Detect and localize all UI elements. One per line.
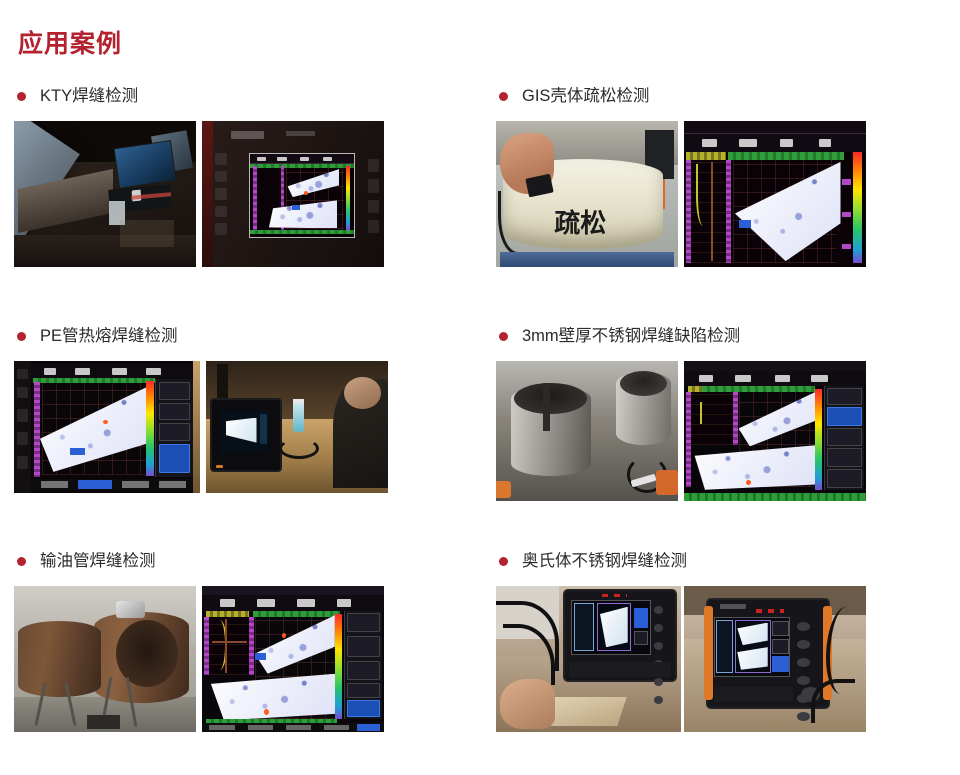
keypad-button[interactable] bbox=[654, 696, 663, 704]
case-item-gis-shell-porosity[interactable]: GIS壳体疏松检测 疏松 bbox=[496, 85, 866, 267]
case-media-row bbox=[496, 361, 866, 501]
readout-value bbox=[75, 368, 90, 376]
case-label-text: 奥氏体不锈钢焊缝检测 bbox=[522, 553, 687, 570]
parameter-box[interactable] bbox=[159, 423, 189, 441]
sector-scan-image bbox=[269, 200, 337, 228]
ut-probe-shape bbox=[116, 601, 145, 619]
case-media-row bbox=[14, 586, 384, 732]
softkey[interactable] bbox=[122, 481, 149, 489]
depth-ruler-left bbox=[34, 382, 40, 477]
parameter-box[interactable] bbox=[159, 382, 189, 400]
cursor-label bbox=[255, 653, 266, 660]
photo-edge-background bbox=[193, 361, 200, 493]
sector-scan-image bbox=[600, 607, 628, 648]
softkey-bar[interactable] bbox=[684, 493, 866, 501]
readout-value bbox=[300, 157, 309, 161]
instrument-keypad-button[interactable] bbox=[368, 159, 379, 172]
parameter-box[interactable] bbox=[347, 636, 380, 658]
readout-value-1 bbox=[220, 599, 235, 606]
oil-pipe-left bbox=[18, 621, 102, 697]
pipe-bore-right bbox=[620, 371, 667, 396]
a-scan-panel bbox=[716, 620, 732, 673]
instrument-display bbox=[220, 410, 270, 453]
case-label: 奥氏体不锈钢焊缝检测 bbox=[496, 550, 866, 572]
instrument-side-button[interactable] bbox=[215, 188, 228, 200]
parameter-box[interactable] bbox=[827, 388, 861, 405]
austenitic-device-photo[interactable] bbox=[684, 586, 866, 732]
status-led-row bbox=[756, 609, 785, 612]
instrument-side-button[interactable] bbox=[17, 387, 28, 398]
scale-marker bbox=[842, 244, 851, 250]
display-readout-bar bbox=[202, 595, 384, 611]
pipe-bore-left bbox=[514, 383, 587, 414]
parameter-box[interactable] bbox=[827, 448, 861, 467]
case-item-kty-weld[interactable]: KTY焊缝检测 bbox=[14, 85, 384, 267]
person-head-shape bbox=[344, 377, 380, 409]
readout-value bbox=[323, 157, 332, 161]
case-label-text: KTY焊缝检测 bbox=[40, 88, 138, 105]
sector-scan-image bbox=[226, 418, 257, 443]
readout-value bbox=[811, 375, 827, 382]
scale-marker bbox=[842, 179, 851, 185]
austenitic-scan-photo[interactable] bbox=[496, 586, 681, 732]
a-scan-panel bbox=[574, 603, 594, 651]
softkey-bar[interactable] bbox=[569, 662, 671, 676]
softkey-bar[interactable] bbox=[714, 687, 793, 702]
page-title: 应用案例 bbox=[18, 32, 122, 57]
parameter-box-selected[interactable] bbox=[827, 407, 861, 426]
readout-value bbox=[819, 139, 832, 147]
amplitude-color-scale bbox=[815, 389, 822, 490]
parameter-panel[interactable] bbox=[344, 611, 382, 719]
instrument-side-button[interactable] bbox=[17, 409, 28, 422]
amplitude-color-scale bbox=[335, 614, 342, 719]
display-menu-bar bbox=[202, 586, 384, 595]
instrument-brand-mark bbox=[720, 604, 746, 609]
parameter-box-selected[interactable] bbox=[347, 700, 380, 716]
defect-indication bbox=[264, 709, 269, 715]
softkey[interactable] bbox=[41, 481, 68, 489]
couplant-bottle-shape bbox=[293, 403, 304, 432]
readout-value bbox=[739, 139, 757, 147]
instrument-panel bbox=[260, 414, 268, 444]
case-label: KTY焊缝检测 bbox=[14, 85, 384, 107]
operator-hand-shape bbox=[500, 679, 556, 729]
case-item-stainless-3mm-weld-defect[interactable]: 3mm壁厚不锈钢焊缝缺陷检测 bbox=[496, 325, 866, 501]
parameter-box[interactable] bbox=[772, 639, 788, 654]
case-item-oil-pipeline-weld[interactable]: 输油管焊缝检测 bbox=[14, 550, 384, 732]
instrument-side-button[interactable] bbox=[215, 223, 228, 235]
base-block-shape bbox=[87, 715, 120, 730]
display-readout-bar bbox=[684, 134, 866, 152]
kty-site-photo[interactable] bbox=[14, 121, 196, 267]
instrument-bumper-left bbox=[704, 606, 713, 700]
orange-tool-shape bbox=[496, 481, 511, 498]
readout-value bbox=[112, 368, 127, 376]
readout-value bbox=[775, 375, 790, 382]
parameter-box[interactable] bbox=[347, 683, 380, 698]
scale-marker bbox=[842, 212, 851, 218]
bullet-dot-icon bbox=[17, 92, 26, 101]
softkey[interactable] bbox=[248, 725, 273, 730]
keypad-button[interactable] bbox=[654, 642, 663, 650]
instrument-side-rail bbox=[14, 361, 31, 493]
parameter-box[interactable] bbox=[772, 621, 788, 636]
instrument-keypad[interactable] bbox=[796, 619, 825, 677]
softkey-bar[interactable] bbox=[31, 479, 200, 491]
depth-ruler-middle bbox=[249, 617, 254, 675]
readout-value-2 bbox=[257, 599, 275, 606]
instrument-side-strip bbox=[202, 121, 213, 267]
depth-ruler-middle bbox=[726, 160, 731, 262]
case-item-austenitic-stainless-weld[interactable]: 奥氏体不锈钢焊缝检测 bbox=[496, 550, 866, 732]
case-media-row bbox=[14, 361, 388, 493]
parameter-box[interactable] bbox=[347, 613, 380, 632]
faint-text-region bbox=[120, 220, 175, 246]
readout-value bbox=[735, 375, 751, 382]
pe-workbench-photo[interactable] bbox=[206, 361, 388, 493]
readout-value-4 bbox=[337, 599, 352, 606]
display-footer-bar bbox=[250, 230, 354, 234]
gis-paut-screen-photo[interactable] bbox=[684, 121, 866, 267]
instrument-keypad[interactable] bbox=[653, 602, 673, 656]
softkey[interactable] bbox=[209, 725, 234, 730]
case-media-row bbox=[496, 586, 866, 732]
defect-indication bbox=[746, 480, 751, 485]
probe-cable-shape bbox=[279, 438, 319, 459]
instrument-side-button[interactable] bbox=[17, 456, 28, 469]
readout-value bbox=[277, 157, 286, 161]
case-item-pe-pipe-fusion-weld[interactable]: PE管热熔焊缝检测 bbox=[14, 325, 388, 493]
sector-scan-image-bottom bbox=[737, 647, 768, 670]
keypad-button[interactable] bbox=[654, 678, 663, 686]
gate-cursor bbox=[711, 162, 713, 260]
softkey-bar[interactable] bbox=[202, 723, 384, 732]
readout-value bbox=[146, 368, 161, 376]
status-led-row bbox=[602, 594, 626, 598]
softkey[interactable] bbox=[286, 725, 311, 730]
sector-scan-display[interactable] bbox=[249, 153, 355, 238]
parameter-box-selected[interactable] bbox=[634, 608, 648, 627]
readout-value bbox=[702, 139, 717, 147]
keypad-button[interactable] bbox=[797, 622, 810, 631]
instrument-keypad-button[interactable] bbox=[368, 220, 379, 233]
case-label: GIS壳体疏松检测 bbox=[496, 85, 866, 107]
instrument-bumper bbox=[216, 465, 223, 468]
kty-paut-screen-photo[interactable] bbox=[202, 121, 384, 267]
case-label-text: 输油管焊缝检测 bbox=[40, 553, 156, 570]
a-scan-panel bbox=[691, 160, 726, 262]
sector-scan-image-top bbox=[737, 623, 767, 646]
a-scan-panel bbox=[691, 392, 733, 445]
amplitude-color-scale bbox=[146, 381, 153, 476]
application-cases-page: 应用案例 KTY焊缝检测 bbox=[0, 0, 960, 775]
case-label: 输油管焊缝检测 bbox=[14, 550, 384, 572]
softkey[interactable] bbox=[159, 481, 186, 489]
gate-line bbox=[212, 641, 247, 643]
instrument-header-text bbox=[286, 131, 315, 135]
keypad-button[interactable] bbox=[797, 712, 810, 721]
instrument-keypad-button[interactable] bbox=[368, 179, 379, 192]
stainless-paut-screen-photo[interactable] bbox=[684, 361, 866, 501]
monitor-screen-shape bbox=[113, 141, 176, 190]
bullet-dot-icon bbox=[17, 557, 26, 566]
display-readout-bar bbox=[31, 364, 200, 380]
parameter-box[interactable] bbox=[827, 469, 861, 488]
instrument-brand-mark bbox=[231, 131, 264, 138]
bullet-dot-icon bbox=[499, 557, 508, 566]
depth-ruler-middle bbox=[733, 392, 738, 445]
readout-value bbox=[699, 375, 714, 382]
parameter-panel[interactable] bbox=[824, 386, 864, 490]
readout-value bbox=[780, 139, 793, 147]
stainless-pipes-photo[interactable] bbox=[496, 361, 678, 501]
readout-value-3 bbox=[297, 599, 315, 606]
readout-value bbox=[44, 368, 56, 376]
case-media-row bbox=[14, 121, 384, 267]
paut-instrument-shape[interactable] bbox=[563, 589, 678, 682]
sector-scan-panel bbox=[735, 620, 771, 673]
keypad-button[interactable] bbox=[797, 658, 810, 667]
cursor-label bbox=[292, 205, 300, 210]
display-menu-bar bbox=[684, 361, 866, 371]
display-gate-bar-secondary bbox=[686, 152, 726, 161]
support-frame-shape bbox=[500, 252, 675, 267]
gis-shell-photo[interactable]: 疏松 bbox=[496, 121, 678, 267]
bullet-dot-icon bbox=[499, 332, 508, 341]
defect-indication bbox=[282, 633, 286, 638]
parameter-box-selected[interactable] bbox=[772, 656, 788, 672]
display-readout-bar bbox=[684, 371, 866, 386]
probe-cable-shape bbox=[811, 679, 855, 723]
softkey-selected[interactable] bbox=[78, 480, 112, 490]
pe-paut-screen-photo[interactable] bbox=[14, 361, 200, 493]
parameter-box[interactable] bbox=[159, 403, 189, 421]
sector-scan-panel bbox=[597, 603, 631, 651]
instrument-side-button[interactable] bbox=[17, 432, 28, 445]
keypad-button[interactable] bbox=[654, 606, 663, 614]
depth-ruler-left bbox=[253, 166, 256, 230]
marking-char-1: 疏松 bbox=[554, 203, 606, 240]
paut-instrument-shape[interactable] bbox=[706, 598, 830, 709]
case-label-text: 3mm壁厚不锈钢焊缝缺陷检测 bbox=[522, 328, 740, 345]
case-label: 3mm壁厚不锈钢焊缝缺陷检测 bbox=[496, 325, 866, 347]
paut-instrument-shape[interactable] bbox=[210, 398, 283, 472]
a-scan-panel bbox=[209, 617, 249, 675]
parameter-box-selected[interactable] bbox=[159, 444, 189, 473]
readout-value bbox=[257, 157, 266, 161]
instrument-side-button[interactable] bbox=[215, 171, 228, 183]
amplitude-color-scale bbox=[346, 166, 350, 230]
case-label: PE管热熔焊缝检测 bbox=[14, 325, 388, 347]
display-gate-bar bbox=[728, 152, 844, 161]
cursor-label bbox=[70, 448, 85, 455]
instrument-side-button[interactable] bbox=[215, 153, 228, 165]
parameter-box[interactable] bbox=[827, 428, 861, 447]
weld-bar-shape bbox=[543, 383, 549, 431]
bullet-dot-icon bbox=[499, 92, 508, 101]
a-scan-trace bbox=[696, 164, 710, 225]
case-media-row: 疏松 bbox=[496, 121, 866, 267]
keypad-button[interactable] bbox=[654, 624, 663, 632]
amplitude-color-scale bbox=[853, 152, 862, 263]
gate-cursor bbox=[225, 619, 227, 673]
instrument-keypad-button[interactable] bbox=[368, 200, 379, 213]
parameter-box[interactable] bbox=[347, 661, 380, 680]
softkey[interactable] bbox=[324, 725, 349, 730]
probe-cable-shape bbox=[498, 191, 531, 255]
instrument-side-button[interactable] bbox=[17, 369, 28, 380]
cursor-label bbox=[739, 220, 752, 227]
parameter-panel[interactable] bbox=[155, 379, 192, 477]
softkey-selected[interactable] bbox=[357, 724, 381, 730]
case-label-text: PE管热熔焊缝检测 bbox=[40, 328, 178, 345]
bullet-dot-icon bbox=[17, 332, 26, 341]
a-scan-trace bbox=[700, 402, 721, 423]
instrument-side-button[interactable] bbox=[215, 206, 228, 218]
orange-tool-shape bbox=[656, 470, 678, 495]
keypad-button[interactable] bbox=[797, 676, 810, 685]
instrument-display bbox=[714, 617, 791, 677]
oil-paut-screen-photo[interactable] bbox=[202, 586, 384, 732]
case-label-text: GIS壳体疏松检测 bbox=[522, 88, 649, 105]
instrument-display bbox=[571, 600, 651, 655]
display-menu-bar bbox=[684, 121, 866, 134]
display-readout-bar bbox=[250, 154, 354, 164]
oil-pipeline-photo[interactable] bbox=[14, 586, 196, 732]
parameter-box[interactable] bbox=[634, 631, 648, 645]
keypad-button[interactable] bbox=[797, 640, 810, 649]
